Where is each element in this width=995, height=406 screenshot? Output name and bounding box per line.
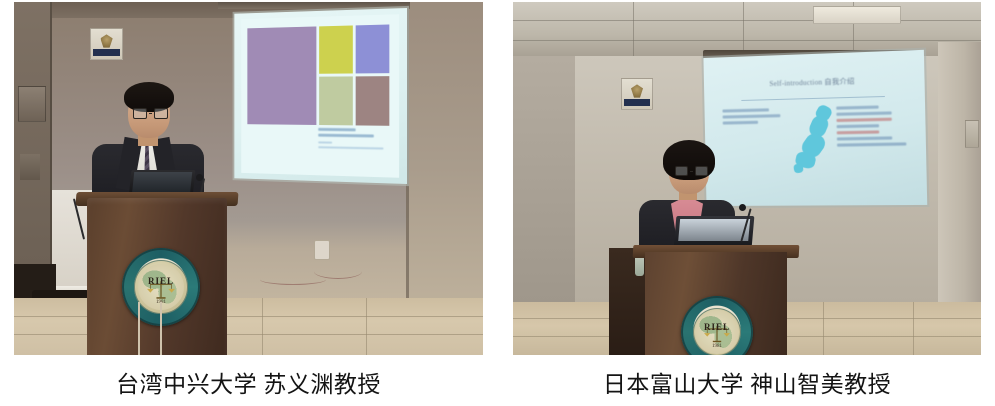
floor-left — [14, 298, 483, 355]
plaque-nameplate-right — [624, 99, 650, 106]
riel-emblem-year-right: 1981 — [693, 344, 742, 349]
slide-left — [241, 14, 399, 178]
slide-text-block-left — [318, 128, 393, 153]
photo-row: RIEL 1981 — [0, 0, 995, 358]
electrical-box-small-icon — [20, 154, 40, 180]
slide-left-column — [722, 108, 781, 128]
plaque-logo-icon-right — [631, 84, 643, 97]
photo-collage-page: RIEL 1981 — [0, 0, 995, 406]
floor-cable — [260, 274, 326, 285]
glasses-bridge-right — [690, 171, 693, 172]
wall-panel-right-left-photo — [406, 2, 483, 302]
wall-plaque-left — [90, 28, 123, 60]
lens-left — [133, 108, 147, 119]
lens-left-right-photo — [675, 166, 688, 176]
block-yellow-green — [319, 25, 352, 74]
lens-right-right-photo — [695, 166, 708, 176]
wall-speaker-icon — [965, 120, 979, 148]
photo-left: RIEL 1981 — [14, 2, 483, 355]
plaque-logo-icon — [100, 34, 112, 47]
wall-plaque-right — [621, 78, 653, 110]
block-blue-violet — [355, 24, 389, 73]
riel-emblem-text-left: RIEL — [134, 276, 187, 286]
wall-column-left — [14, 2, 52, 264]
riel-emblem-text-right: RIEL — [693, 322, 742, 332]
ceiling-right — [513, 2, 981, 56]
wall-right-left-section — [513, 56, 575, 302]
plaque-nameplate — [93, 49, 120, 56]
laptop-screen-left — [132, 172, 192, 192]
slide-color-blocks — [247, 24, 389, 125]
lens-right — [154, 108, 168, 119]
projection-screen-left — [234, 8, 407, 184]
podium-legs-left — [134, 302, 170, 355]
caption-right: 日本富山大学 神山智美教授 — [513, 358, 981, 406]
block-pale-green — [319, 77, 352, 125]
wall-outlet-icon — [314, 240, 330, 260]
slide-title-right: Self-introduction 自我介绍 — [741, 76, 885, 90]
eyeglasses-icon-right — [675, 166, 708, 176]
block-mauve-brown — [355, 76, 389, 125]
eyeglasses-icon — [133, 108, 168, 119]
glasses-bridge — [149, 113, 152, 114]
caption-left: 台湾中兴大学 苏义渊教授 — [14, 358, 483, 406]
japan-map-icon — [792, 105, 838, 183]
electrical-box-icon — [18, 86, 46, 122]
riel-emblem-inner-right: RIEL 1981 — [693, 308, 742, 355]
wall-column-right — [938, 42, 981, 308]
microphone-head-right — [739, 204, 746, 211]
ceiling-light — [813, 6, 901, 24]
captions-row: 台湾中兴大学 苏义渊教授 日本富山大学 神山智美教授 — [0, 358, 995, 406]
microphone-head-left — [196, 174, 203, 181]
slide-right-column — [836, 105, 907, 150]
photo-right: Self-introduction 自我介绍 — [513, 2, 981, 355]
block-large-purple — [247, 26, 317, 124]
laptop-screen-right — [678, 219, 750, 241]
floor-cable-2 — [314, 264, 362, 279]
slide-title-underline — [741, 96, 885, 101]
